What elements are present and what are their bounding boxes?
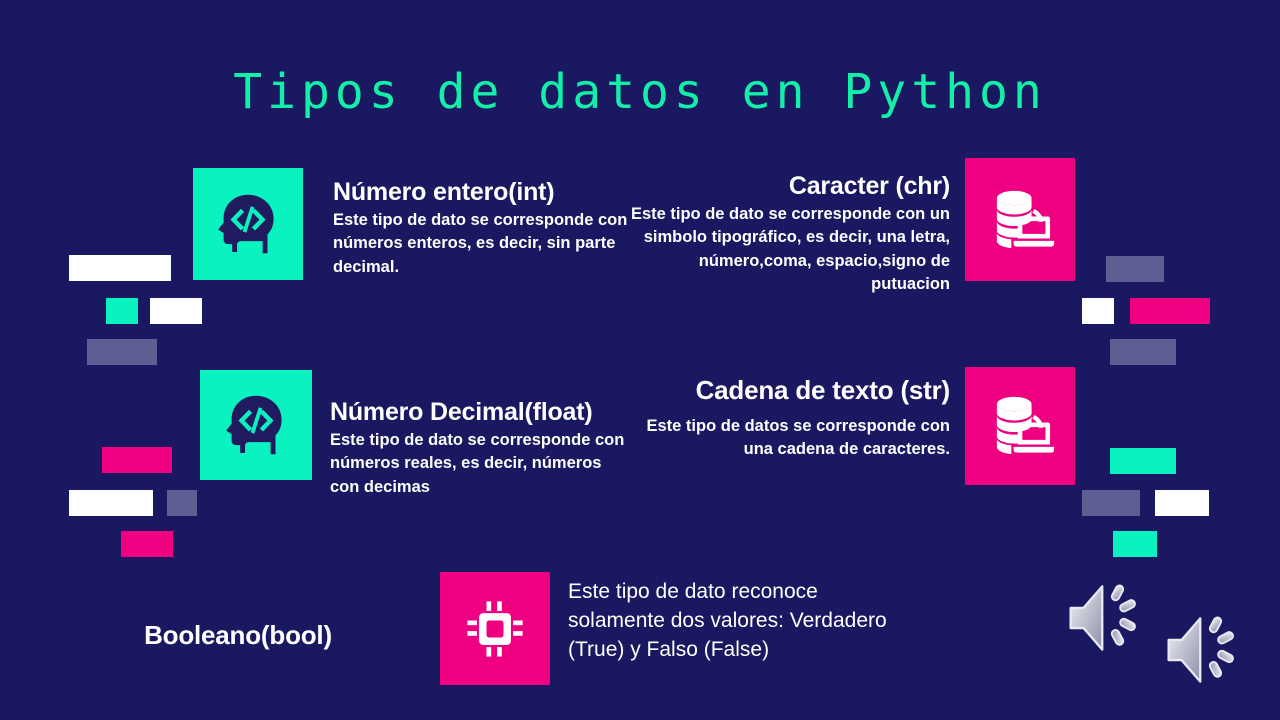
head-code-icon bbox=[209, 185, 287, 263]
card-body-int: Este tipo de dato se corresponde con núm… bbox=[333, 209, 633, 279]
card-text-int: Número entero(int) Este tipo de dato se … bbox=[333, 178, 633, 279]
icon-tile-str bbox=[965, 367, 1075, 485]
deco-white-1 bbox=[69, 255, 171, 281]
deco-pink-3 bbox=[1130, 298, 1210, 324]
deco-green-3 bbox=[1113, 531, 1157, 557]
page-title: Tipos de datos en Python bbox=[0, 64, 1280, 120]
bool-body: Este tipo de dato reconoce solamente dos… bbox=[568, 578, 898, 664]
icon-tile-float bbox=[200, 370, 312, 480]
deco-purple-3 bbox=[1106, 256, 1164, 282]
deco-pink-2 bbox=[121, 531, 173, 557]
card-title-int: Número entero(int) bbox=[333, 178, 633, 206]
database-laptop-icon bbox=[983, 183, 1057, 257]
card-text-str: Cadena de texto (str) Este tipo de datos… bbox=[635, 375, 950, 462]
deco-white-5 bbox=[1155, 490, 1209, 516]
deco-purple-4 bbox=[1110, 339, 1176, 365]
card-body-str: Este tipo de datos se corresponde con un… bbox=[635, 415, 950, 462]
icon-tile-int bbox=[193, 168, 303, 280]
deco-green-1 bbox=[106, 298, 138, 324]
icon-tile-chr bbox=[965, 158, 1075, 281]
card-text-float: Número Decimal(float) Este tipo de dato … bbox=[330, 398, 630, 499]
card-text-chr: Caracter (chr) Este tipo de dato se corr… bbox=[630, 172, 950, 297]
speaker-icon-2 bbox=[1160, 604, 1252, 696]
head-code-icon bbox=[217, 386, 295, 464]
slide-canvas: Tipos de datos en Python Número entero(i… bbox=[0, 0, 1280, 720]
bool-label: Booleano(bool) bbox=[100, 620, 376, 651]
card-title-str: Cadena de texto (str) bbox=[635, 375, 950, 406]
card-body-chr: Este tipo de dato se corresponde con un … bbox=[630, 203, 950, 297]
card-title-chr: Caracter (chr) bbox=[630, 172, 950, 200]
database-laptop-icon bbox=[983, 389, 1057, 463]
deco-white-3 bbox=[69, 490, 153, 516]
deco-white-2 bbox=[150, 298, 202, 324]
card-body-float: Este tipo de dato se corresponde con núm… bbox=[330, 429, 630, 499]
deco-pink-1 bbox=[102, 447, 172, 473]
speaker-icon-1 bbox=[1062, 572, 1154, 664]
deco-purple-5 bbox=[1082, 490, 1140, 516]
deco-purple-1 bbox=[87, 339, 157, 365]
deco-green-2 bbox=[1110, 448, 1176, 474]
icon-tile-bool bbox=[440, 572, 550, 685]
cpu-chip-icon bbox=[461, 595, 529, 663]
card-title-float: Número Decimal(float) bbox=[330, 398, 630, 426]
deco-purple-2 bbox=[167, 490, 197, 516]
deco-white-4 bbox=[1082, 298, 1114, 324]
